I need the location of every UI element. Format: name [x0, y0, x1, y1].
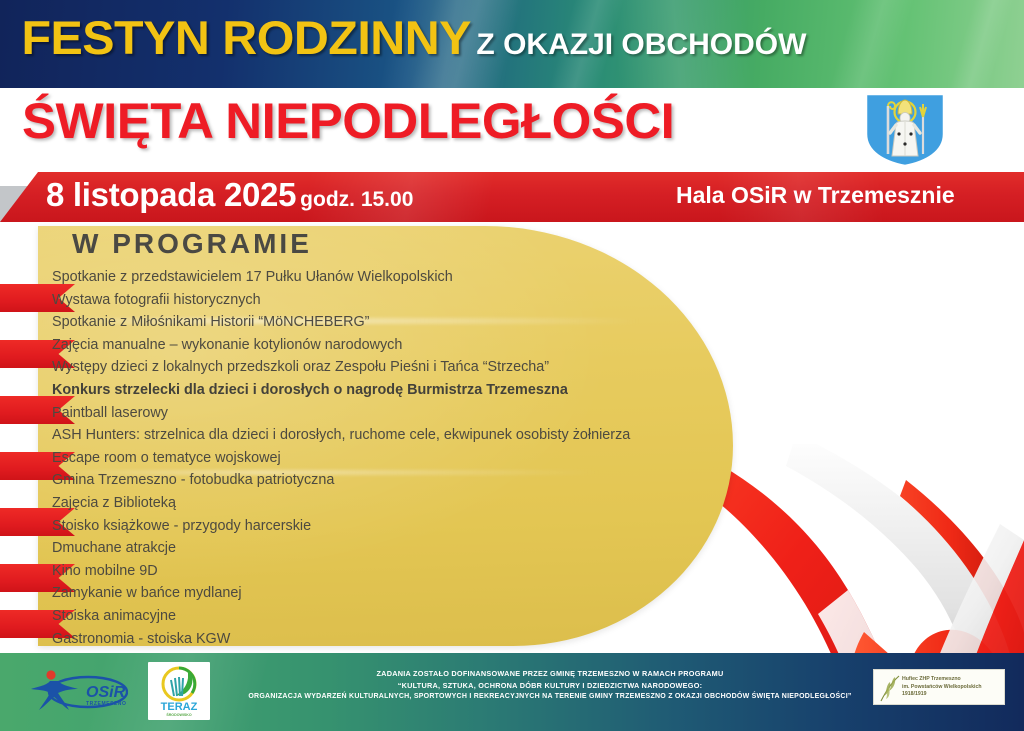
svg-text:ŚRODOWISKO: ŚRODOWISKO — [166, 712, 192, 717]
program-list-item: Gastronomia - stoiska KGW — [52, 628, 712, 651]
date-time-group: 8 listopada 2025 godz. 15.00 — [46, 178, 413, 211]
svg-text:TRZEMESZNO: TRZEMESZNO — [86, 701, 126, 707]
svg-text:TERAZ: TERAZ — [161, 701, 198, 713]
zhp-logo-text: Hufiec ZHP Trzemeszno im. Powstańców Wie… — [902, 676, 1002, 699]
title-festyn-rodzinny: FESTYN RODZINNY — [21, 14, 471, 61]
program-list-item: Gmina Trzemeszno - fotobudka patriotyczn… — [52, 469, 712, 492]
poster-root: FESTYN RODZINNY Z OKAZJI OBCHODÓW ŚWIĘTA… — [0, 0, 1024, 731]
event-time: godz. 15.00 — [300, 189, 413, 210]
program-list-item: Dmuchane atrakcje — [52, 537, 712, 560]
program-list-item: Kino mobilne 9D — [52, 560, 712, 583]
program-list-item: Stoisko książkowe - przygody harcerskie — [52, 515, 712, 538]
program-list-item: ASH Hunters: strzelnica dla dzieci i dor… — [52, 424, 712, 447]
title-z-okazji-obchodow: Z OKAZJI OBCHODÓW — [476, 30, 806, 60]
zhp-line-1: Hufiec ZHP Trzemeszno — [902, 676, 1002, 684]
zhp-line-2: im. Powstańców Wielkopolskich — [902, 684, 1002, 692]
program-heading: W PROGRAMIE — [72, 230, 312, 258]
main-title-row: FESTYN RODZINNY Z OKAZJI OBCHODÓW — [28, 14, 806, 61]
program-list-item: Zamykanie w bańce mydlanej — [52, 582, 712, 605]
program-list-item: Escape room o tematyce wojskowej — [52, 447, 712, 470]
funding-note: ZADANIA ZOSTAŁO DOFINANSOWANE PRZEZ GMIN… — [230, 668, 870, 703]
program-list-item: Paintball laserowy — [52, 402, 712, 425]
event-date: 8 listopada 2025 — [46, 178, 296, 211]
header-streak-4 — [934, 0, 1024, 88]
coat-of-arms-trzemeszno — [862, 92, 948, 168]
funding-line-3: ORGANIZACJA WYDARZEŃ KULTURALNYCH, SPORT… — [230, 691, 870, 703]
program-list-item: Występy dzieci z lokalnych przedszkoli o… — [52, 356, 712, 379]
program-list-item: Spotkanie z Miłośnikami Historii “MöNCHE… — [52, 311, 712, 334]
event-venue: Hala OSiR w Trzemesznie — [676, 184, 955, 207]
program-list: Spotkanie z przedstawicielem 17 Pułku Uł… — [52, 266, 712, 650]
program-list-item: Konkurs strzelecki dla dzieci i dorosłyc… — [52, 379, 712, 402]
title-swieta-niepodleglosci: ŚWIĘTA NIEPODLEGŁOŚCI — [22, 96, 674, 146]
funding-line-1: ZADANIA ZOSTAŁO DOFINANSOWANE PRZEZ GMIN… — [230, 668, 870, 680]
program-list-item: Spotkanie z przedstawicielem 17 Pułku Uł… — [52, 266, 712, 289]
svg-text:OSiR: OSiR — [86, 684, 126, 701]
program-list-item: Zajęcia z Biblioteką — [52, 492, 712, 515]
teraz-logo: TERAZ ŚRODOWISKO — [148, 662, 210, 720]
zhp-line-3: 1918/1919 — [902, 691, 1002, 699]
program-list-item: Wystawa fotografii historycznych — [52, 289, 712, 312]
zhp-hufiec-logo: Hufiec ZHP Trzemeszno im. Powstańców Wie… — [873, 669, 1005, 705]
header-streak-3 — [814, 0, 926, 88]
funding-line-2: “KULTURA, SZTUKA, OCHRONA DÓBR KULTURY I… — [230, 680, 870, 692]
program-list-item: Zajęcia manualne – wykonanie kotylionów … — [52, 334, 712, 357]
osir-trzemeszno-logo: OSiR TRZEMESZNO — [28, 666, 128, 714]
program-list-item: Stoiska animacyjne — [52, 605, 712, 628]
